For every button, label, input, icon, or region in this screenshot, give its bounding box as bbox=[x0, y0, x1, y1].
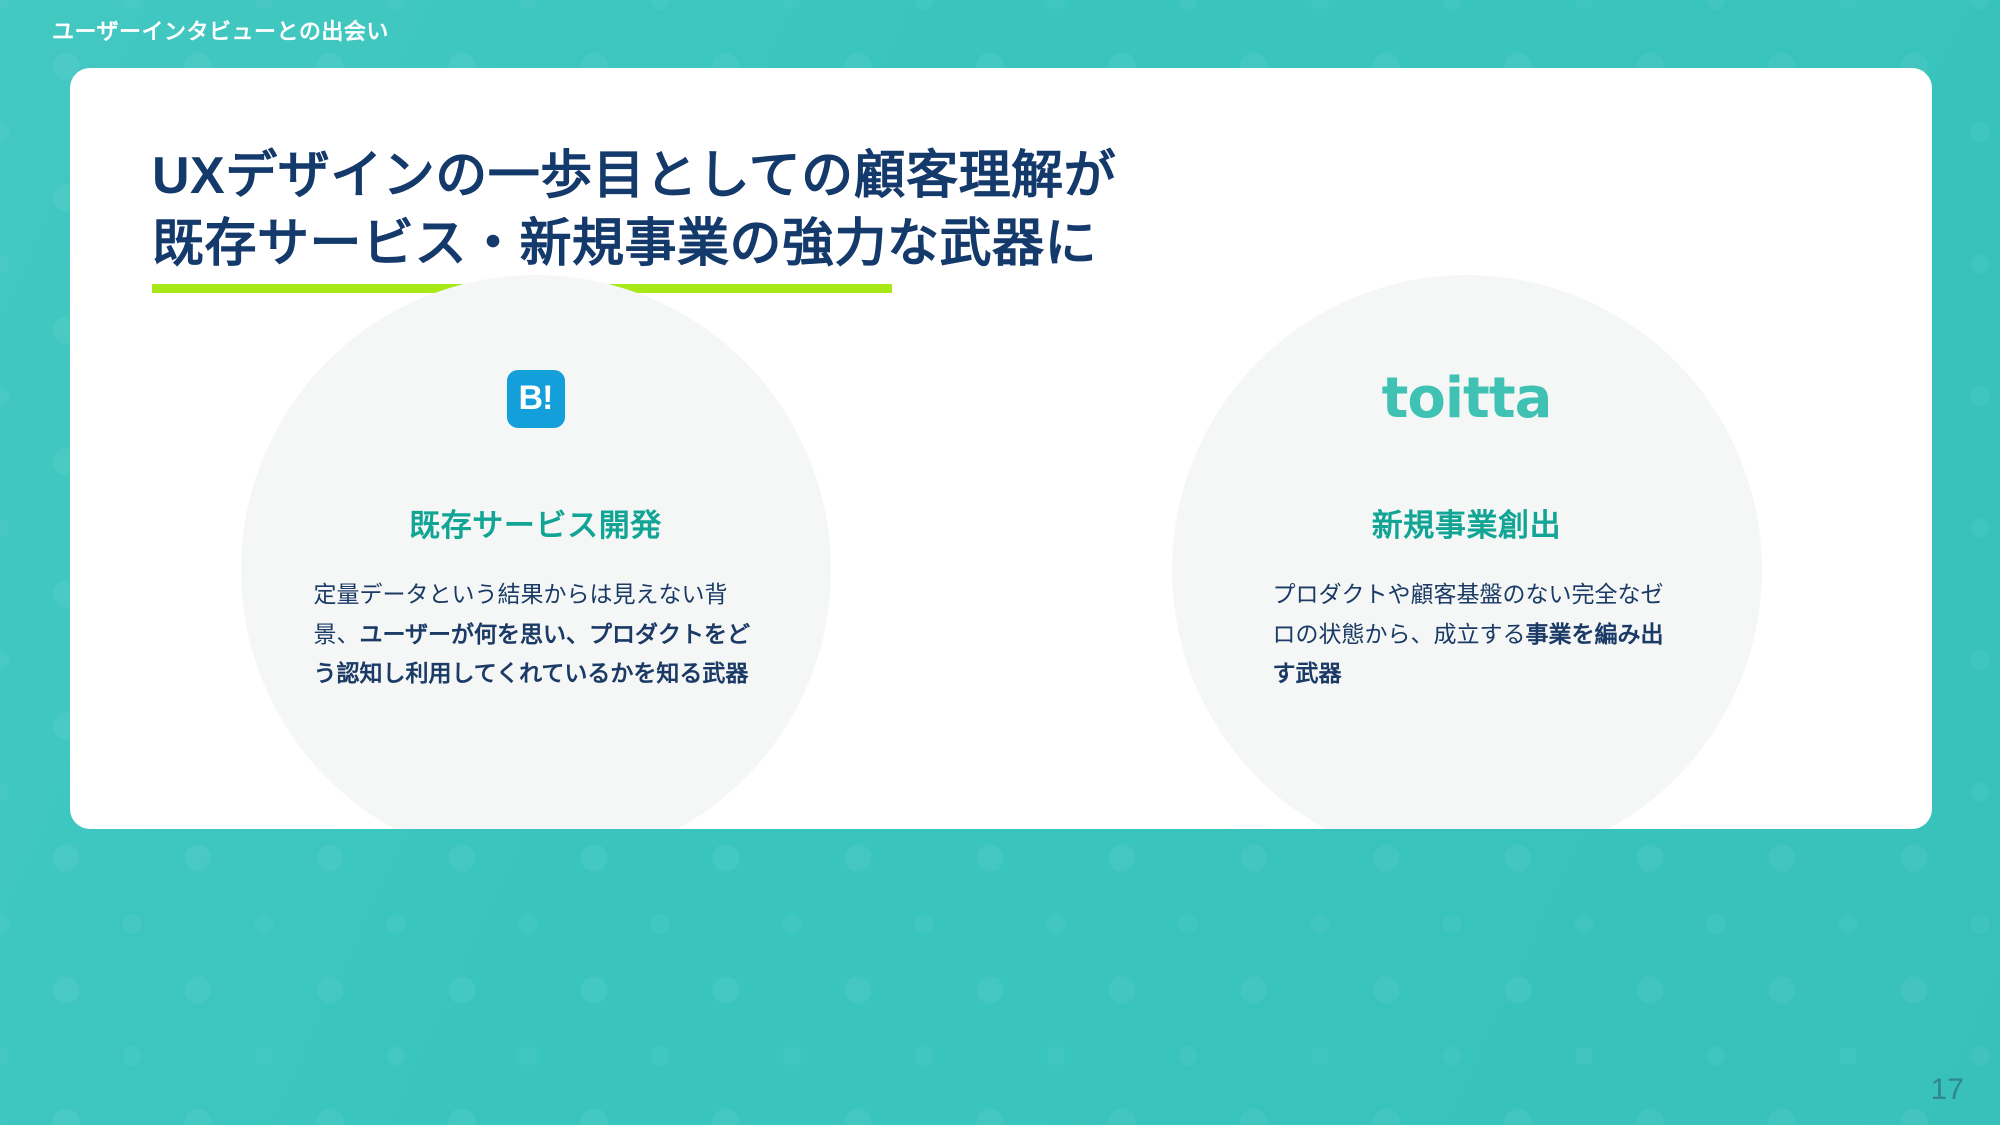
heading-line-2: 既存サービス・新規事業の強力な武器に bbox=[152, 211, 1116, 279]
page-number: 17 bbox=[1931, 1073, 1964, 1107]
toitta-logo: toitta bbox=[1382, 371, 1552, 427]
hatena-bookmark-logo: B! bbox=[507, 370, 565, 428]
column-title-new-business: 新規事業創出 bbox=[1372, 500, 1562, 545]
column-body-new-business: プロダクトや顧客基盤のない完全なゼロの状態から、成立する事業を編み出す武器 bbox=[1273, 575, 1673, 694]
slide-heading: UXデザインの一歩目としての顧客理解が 既存サービス・新規事業の強力な武器に bbox=[152, 143, 1116, 293]
heading-line-1: UXデザインの一歩目としての顧客理解が bbox=[152, 143, 1116, 211]
column-new-business: toitta 新規事業創出 プロダクトや顧客基盤のない完全なゼロの状態から、成立… bbox=[1001, 292, 1932, 812]
logo-slot: toitta bbox=[1382, 340, 1552, 458]
slide-content-card: UXデザインの一歩目としての顧客理解が 既存サービス・新規事業の強力な武器に B… bbox=[70, 68, 1932, 829]
column-existing-service: B! 既存サービス開発 定量データという結果からは見えない背景、ユーザーが何を思… bbox=[70, 292, 1001, 812]
slide-section-label: ユーザーインタビューとの出会い bbox=[52, 14, 389, 46]
column-body-existing-service: 定量データという結果からは見えない背景、ユーザーが何を思い、プロダクトをどう認知… bbox=[314, 575, 766, 694]
logo-slot: B! bbox=[507, 340, 565, 458]
body-text-bold: ユーザーが何を思い、プロダクトをどう認知し利用してくれているかを知る武器 bbox=[314, 621, 751, 687]
column-title-existing-service: 既存サービス開発 bbox=[409, 500, 662, 545]
columns-container: B! 既存サービス開発 定量データという結果からは見えない背景、ユーザーが何を思… bbox=[70, 292, 1932, 812]
